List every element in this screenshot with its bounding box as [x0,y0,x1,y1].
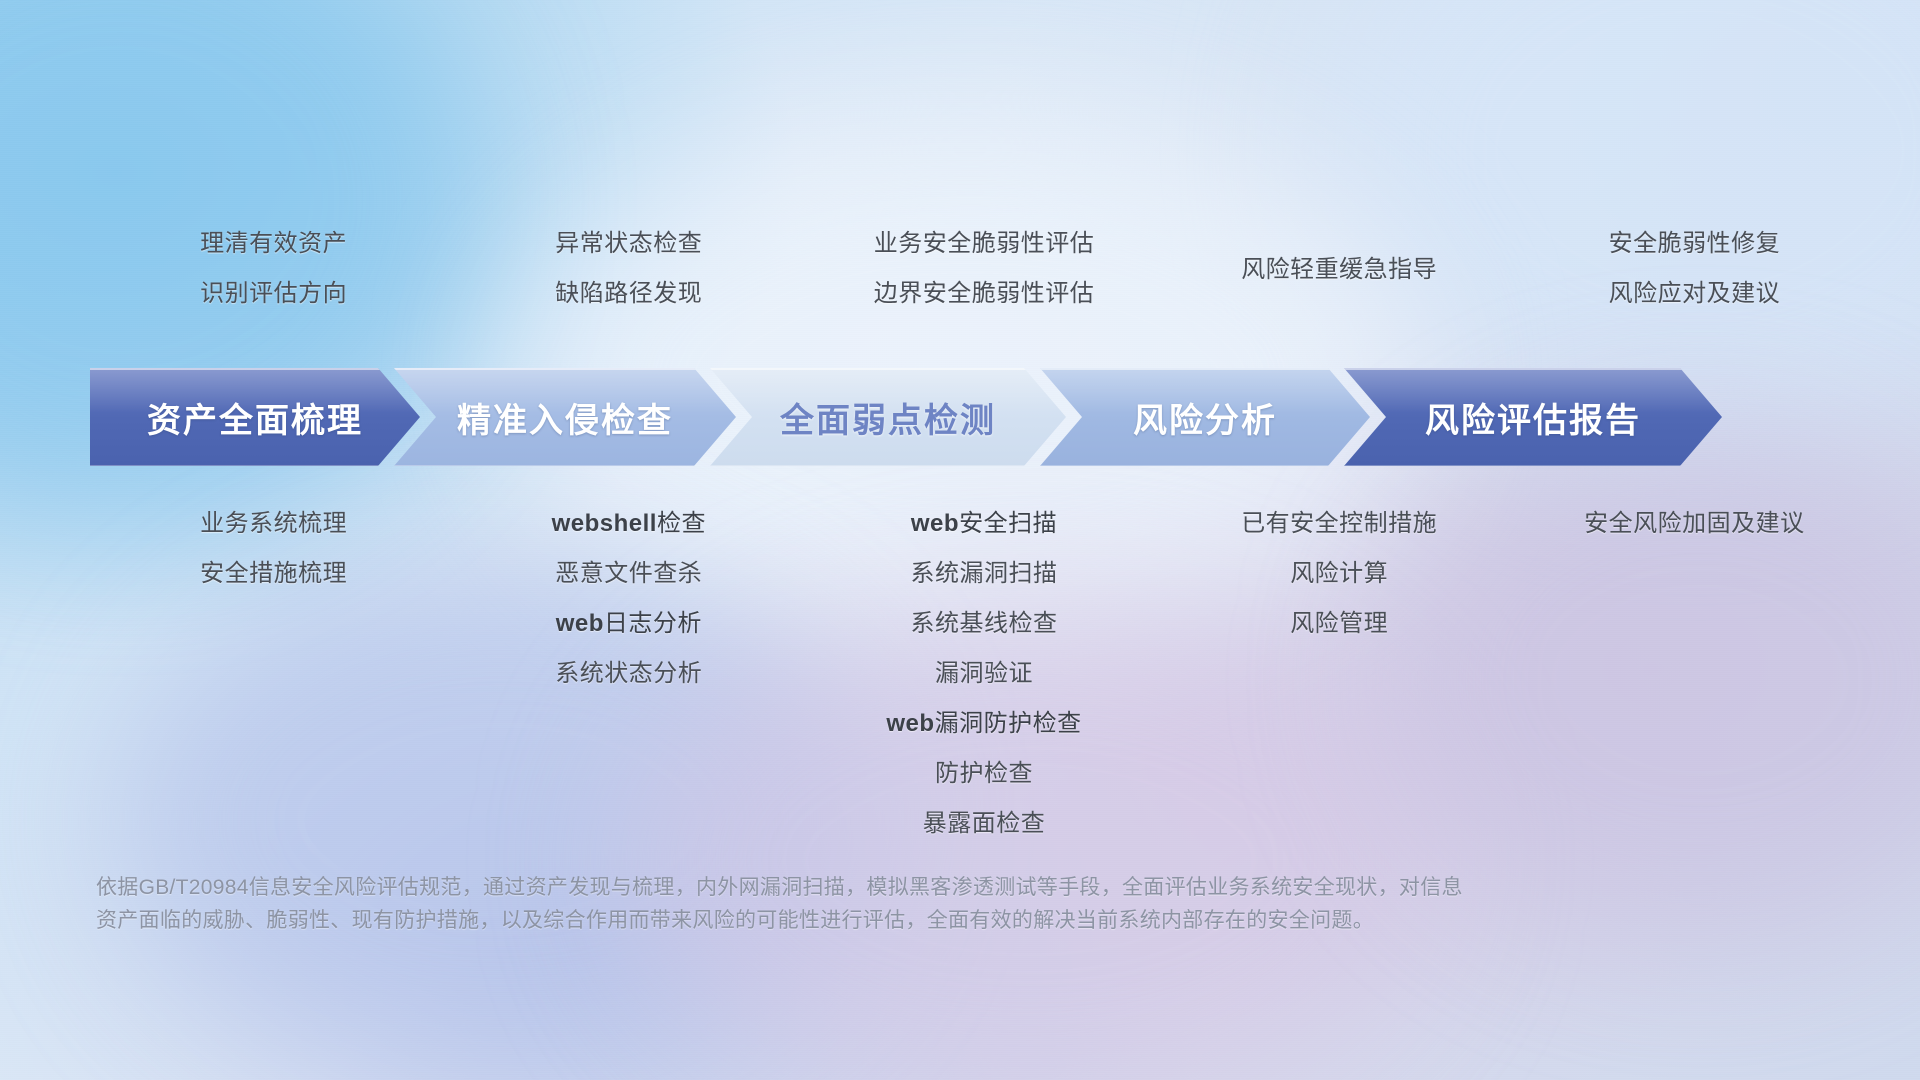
bottom-note-text: 业务系统梳理 [200,510,347,537]
bottom-note-text: 恶意文件查杀 [555,560,702,587]
bottom-notes-column-2: webshell检查 恶意文件查杀 web日志分析 系统状态分析 [451,512,806,836]
bottom-note-text: 防护检查 [935,760,1033,787]
stage-arrow-label: 资产全面梳理 [147,393,363,442]
top-note: 边界安全脆弱性评估 [874,282,1095,306]
bottom-notes-row: 业务系统梳理 安全措施梳理 webshell检查 恶意文件查杀 web日志分析 … [96,512,1872,836]
bottom-note: 系统状态分析 [555,662,702,686]
bottom-note: 漏洞验证 [935,662,1033,686]
stage-arrow-label: 全面弱点检测 [780,393,996,442]
bottom-note: web日志分析 [556,612,702,636]
stage-arrow-assessment-report[interactable]: 风险评估报告 [1344,368,1722,466]
top-notes-column-2: 异常状态检查 缺陷路径发现 [451,232,806,306]
stage-arrow-label: 风险分析 [1133,393,1277,442]
bottom-notes-column-4: 已有安全控制措施 风险计算 风险管理 [1162,512,1517,836]
bottom-note: 防护检查 [935,762,1033,786]
footer-line-1: 依据GB/T20984信息安全风险评估规范，通过资产发现与梳理，内外网漏洞扫描，… [96,872,1656,905]
footer-description: 依据GB/T20984信息安全风险评估规范，通过资产发现与梳理，内外网漏洞扫描，… [96,872,1656,937]
bottom-note-text: 系统漏洞扫描 [910,560,1057,587]
bottom-notes-column-3: web安全扫描 系统漏洞扫描 系统基线检查 漏洞验证 web漏洞防护检查 防护检… [806,512,1161,836]
top-notes-column-3: 业务安全脆弱性评估 边界安全脆弱性评估 [806,232,1161,306]
stage-arrow-weakness-detection[interactable]: 全面弱点检测 [710,368,1066,466]
bottom-note-latin: web [886,710,934,737]
stage-arrow-asset-inventory[interactable]: 资产全面梳理 [90,368,420,466]
process-arrow-band: 资产全面梳理 精准入侵检查 全面弱点检测 风险分析 风险评估报告 [90,368,1836,466]
bottom-note: 系统漏洞扫描 [910,562,1057,586]
footer-line-2: 资产面临的威胁、脆弱性、现有防护措施，以及综合作用而带来风险的可能性进行评估，全… [96,905,1656,938]
bottom-note-text: 漏洞防护检查 [935,710,1082,737]
bottom-note: 风险计算 [1290,562,1388,586]
top-note: 风险轻重缓急指导 [1241,258,1437,282]
bottom-note: 业务系统梳理 [200,512,347,536]
bottom-note-latin: web [556,610,604,637]
stage-arrow-label: 风险评估报告 [1425,393,1641,442]
bottom-note-text: 风险管理 [1290,610,1388,637]
bottom-note: 系统基线检查 [910,612,1057,636]
top-notes-column-4: 风险轻重缓急指导 [1162,232,1517,306]
top-note: 理清有效资产 [200,232,347,256]
top-note: 异常状态检查 [555,232,702,256]
bottom-note: 安全措施梳理 [200,562,347,586]
bottom-note: 暴露面检查 [923,812,1046,836]
bottom-notes-column-1: 业务系统梳理 安全措施梳理 [96,512,451,836]
top-note: 风险应对及建议 [1609,282,1781,306]
stage-arrow-risk-analysis[interactable]: 风险分析 [1040,368,1370,466]
bottom-note: 安全风险加固及建议 [1584,512,1805,536]
top-notes-row: 理清有效资产 识别评估方向 异常状态检查 缺陷路径发现 业务安全脆弱性评估 边界… [96,232,1872,306]
stage-arrow-intrusion-check[interactable]: 精准入侵检查 [394,368,736,466]
bottom-note-latin: webshell [552,510,657,537]
infographic-canvas: 理清有效资产 识别评估方向 异常状态检查 缺陷路径发现 业务安全脆弱性评估 边界… [0,0,1920,1080]
bottom-note-text: 系统状态分析 [555,660,702,687]
bottom-note: web安全扫描 [911,512,1057,536]
bottom-note-text: 安全措施梳理 [200,560,347,587]
stage-arrow-label: 精准入侵检查 [457,393,673,442]
bottom-note: webshell检查 [552,512,706,536]
bottom-note-text: 日志分析 [604,610,702,637]
bottom-note-latin: web [911,510,959,537]
bottom-note-text: 检查 [657,510,706,537]
top-notes-column-1: 理清有效资产 识别评估方向 [96,232,451,306]
top-note: 业务安全脆弱性评估 [874,232,1095,256]
bottom-note: 风险管理 [1290,612,1388,636]
bottom-note-text: 漏洞验证 [935,660,1033,687]
bottom-note-text: 安全扫描 [959,510,1057,537]
bottom-note: 恶意文件查杀 [555,562,702,586]
bottom-note-text: 安全风险加固及建议 [1584,510,1805,537]
top-note: 缺陷路径发现 [555,282,702,306]
bottom-note: 已有安全控制措施 [1241,512,1437,536]
bottom-note-text: 系统基线检查 [910,610,1057,637]
bottom-note: web漏洞防护检查 [886,712,1081,736]
top-note: 安全脆弱性修复 [1609,232,1781,256]
bottom-notes-column-5: 安全风险加固及建议 [1517,512,1872,836]
bottom-note-text: 风险计算 [1290,560,1388,587]
top-notes-column-5: 安全脆弱性修复 风险应对及建议 [1517,232,1872,306]
bottom-note-text: 已有安全控制措施 [1241,510,1437,537]
bottom-note-text: 暴露面检查 [923,810,1046,837]
top-note: 识别评估方向 [200,282,347,306]
content-layer: 理清有效资产 识别评估方向 异常状态检查 缺陷路径发现 业务安全脆弱性评估 边界… [0,0,1920,1080]
